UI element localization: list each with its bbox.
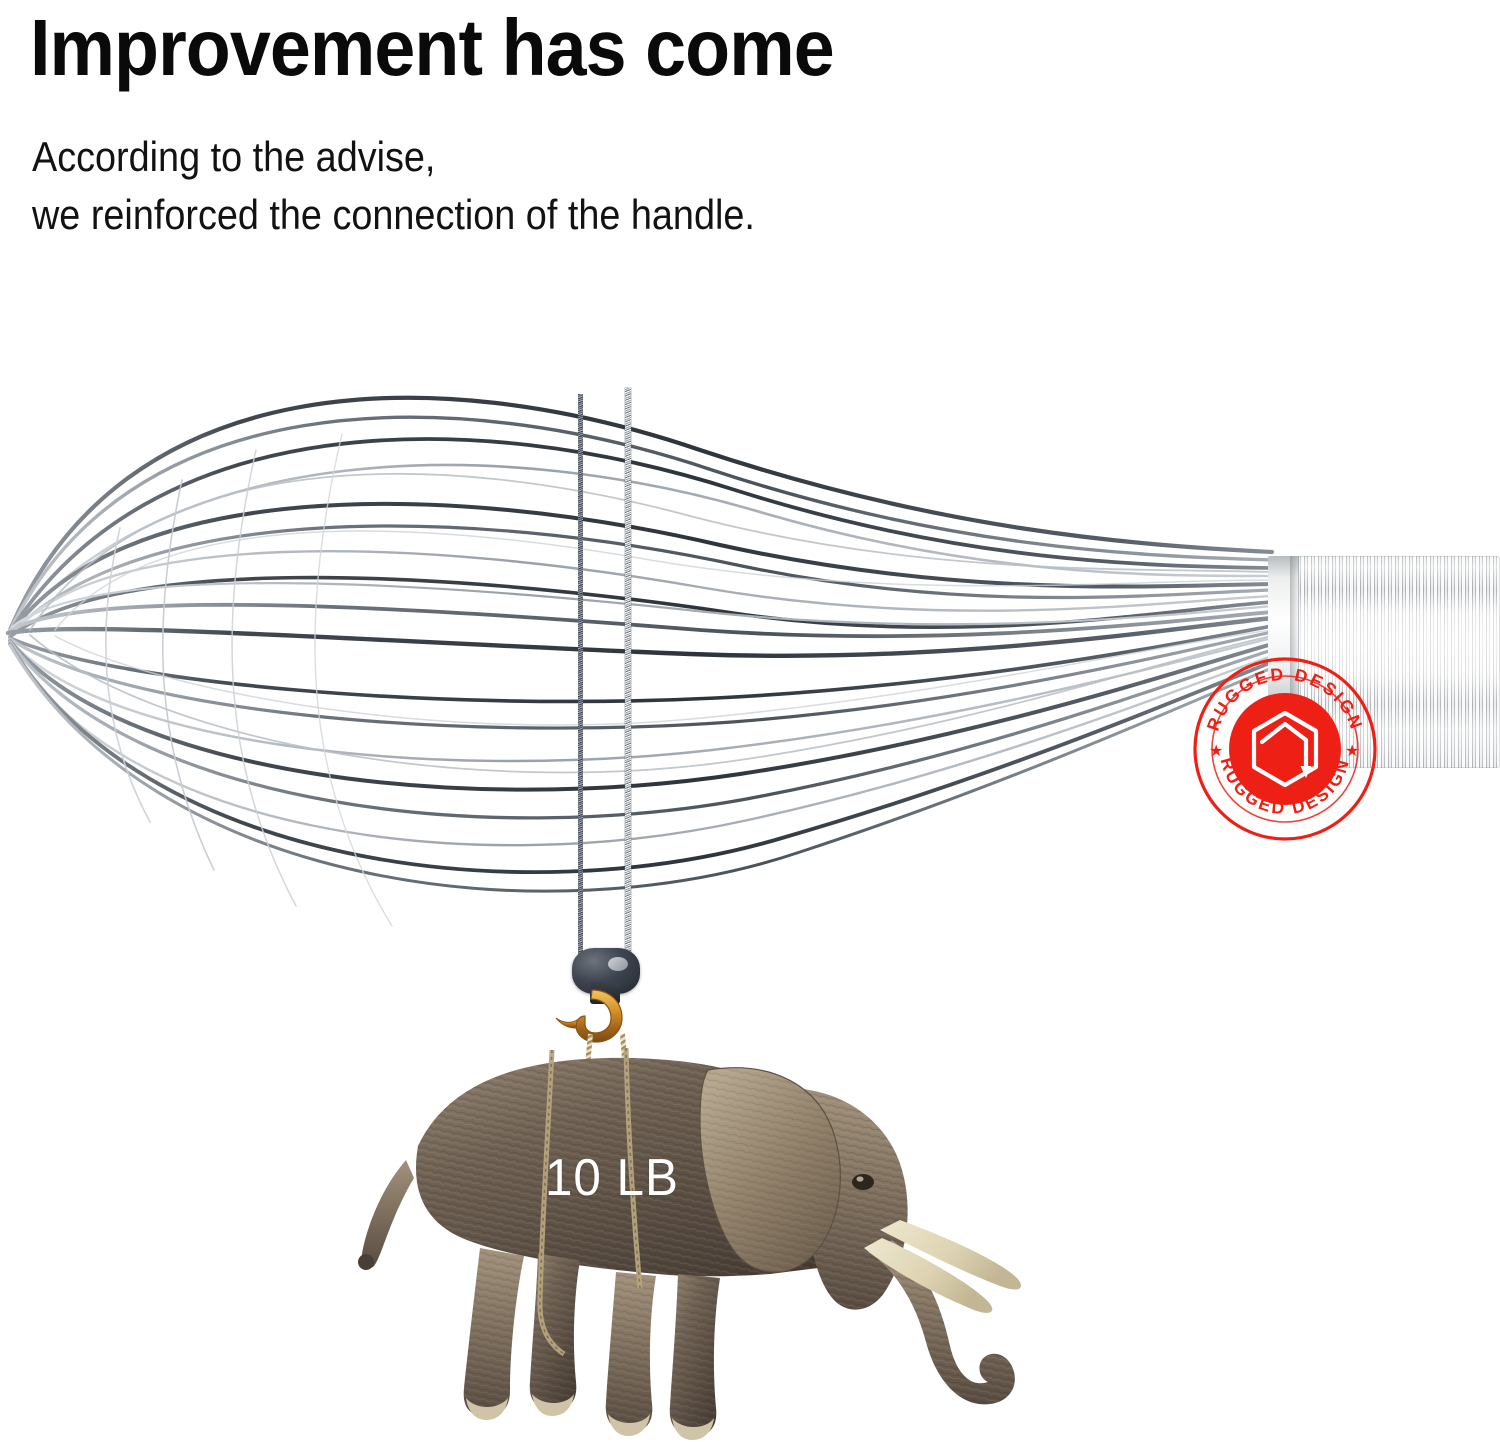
badge-star-right: ★ [1345,743,1359,760]
badge-star-left: ★ [1209,743,1223,760]
rugged-design-stamp: RUGGED DESIGN RUGGED DESIGN ★ ★ [1192,656,1378,842]
elephant-illustration [340,1042,1046,1442]
crane-hook-icon [552,988,644,1050]
page-title: Improvement has come [30,4,834,92]
weight-label: 10 LB [545,1148,679,1208]
product-infographic: Improvement has come According to the ad… [0,0,1500,1442]
crane-cable-front [625,388,631,960]
crane-cable-rear [578,394,583,960]
page-subtitle: According to the advise, we reinforced t… [32,128,755,244]
hook-block-sheave [608,957,628,971]
